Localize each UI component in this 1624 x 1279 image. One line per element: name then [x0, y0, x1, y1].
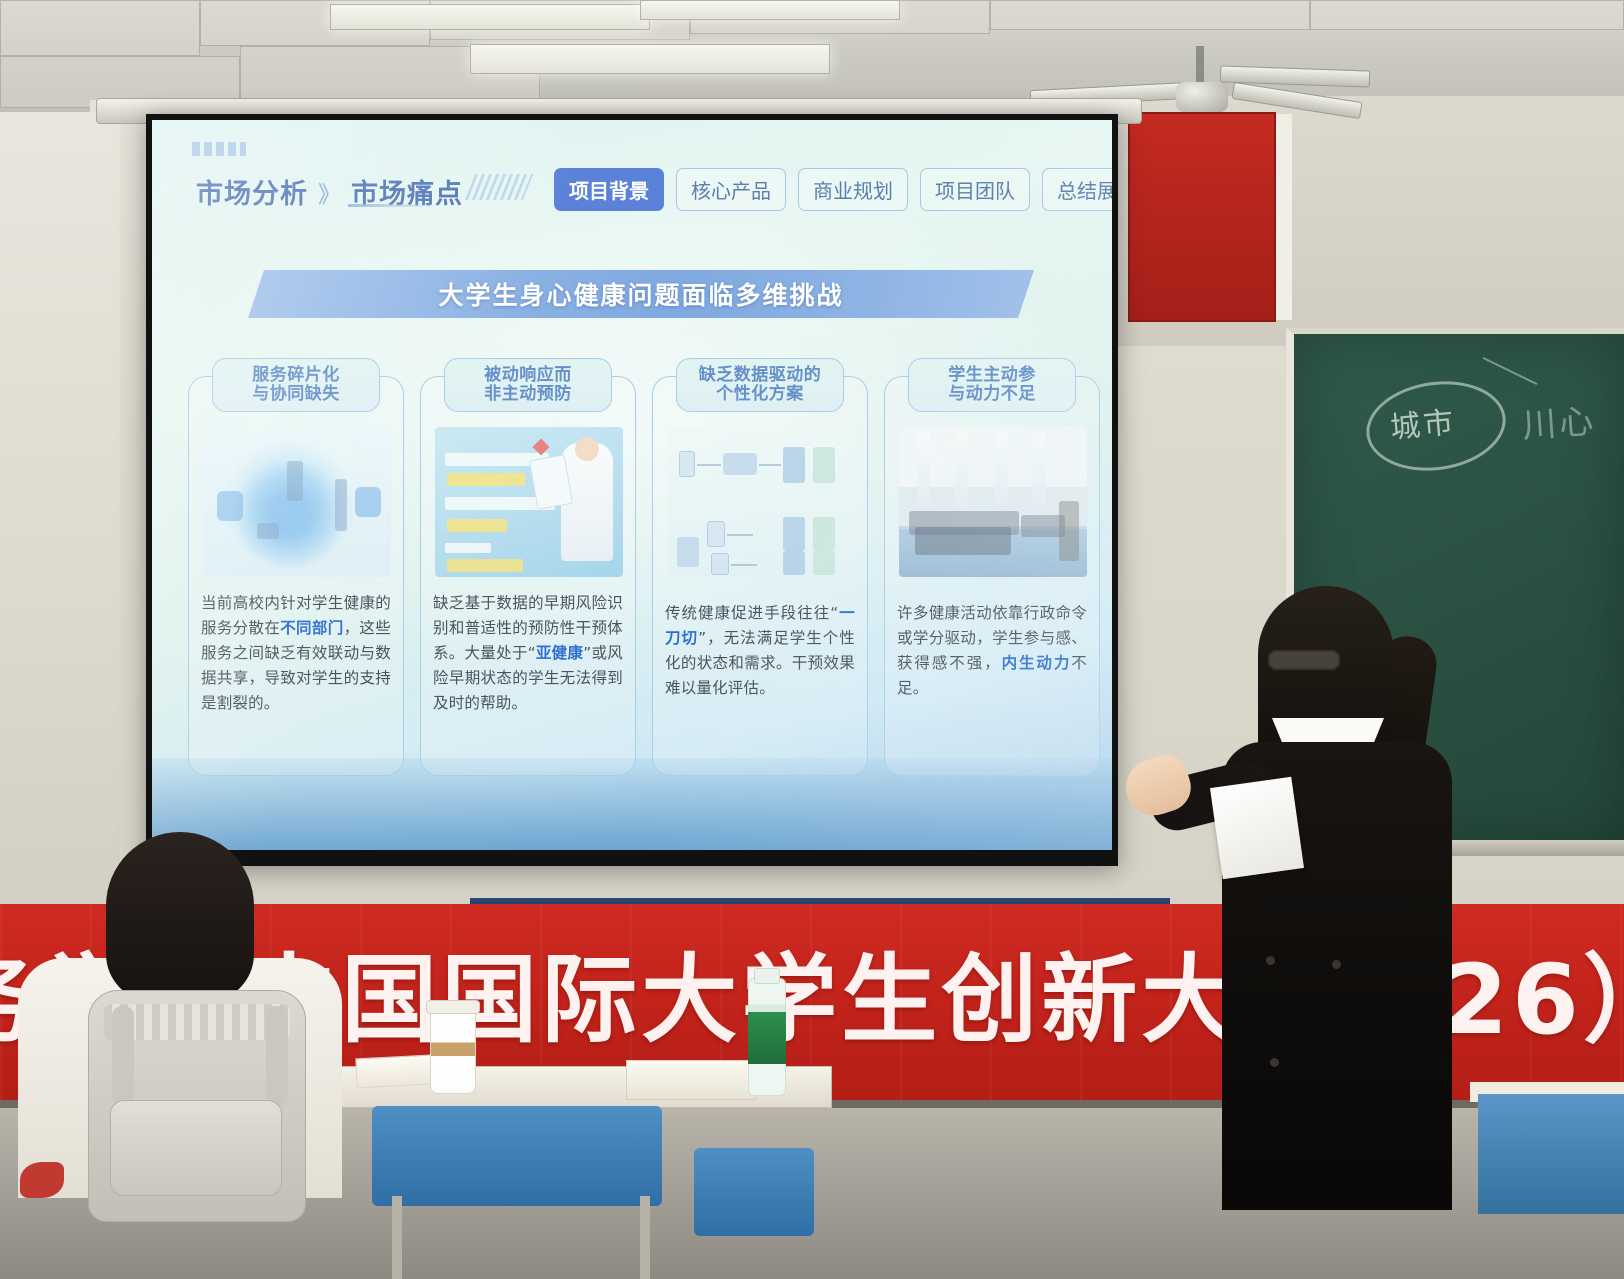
- card-text-highlight: 不同部门: [280, 619, 343, 637]
- card-badge: 服务碎片化 与协同缺失: [212, 358, 380, 412]
- card-badge-line1: 学生主动参: [948, 366, 1036, 385]
- pain-point-card: 服务碎片化 与协同缺失 当前高校内针对学生健康的服务分散在不同部门，这些服务之间…: [188, 376, 404, 776]
- card-thumbnail-tech-illustration: [203, 427, 391, 577]
- slide-tab-bar: 项目背景 核心产品 商业规划 项目团队 总结展望: [554, 168, 1112, 211]
- coat-button: [1270, 1058, 1279, 1067]
- tab-project-team[interactable]: 项目团队: [920, 168, 1030, 211]
- pain-point-card-row: 服务碎片化 与协同缺失 当前高校内针对学生健康的服务分散在不同部门，这些服务之间…: [188, 376, 1100, 776]
- coffee-cup: [430, 1008, 476, 1094]
- backpack-strap: [112, 1006, 134, 1106]
- card-badge-line2: 非主动预防: [484, 385, 572, 404]
- card-body-text: 缺乏基于数据的早期风险识别和普适性的预防性干预体系。大量处于“亚健康”或风险早期…: [433, 591, 623, 717]
- wall-white-strip: [1276, 114, 1292, 320]
- red-bow-decoration: [20, 1162, 64, 1198]
- card-badge: 被动响应而 非主动预防: [444, 358, 612, 412]
- card-text-highlight: 内生动力: [1002, 654, 1072, 672]
- ceiling-light: [470, 44, 830, 74]
- blackboard-chalk-primary: 城市: [1388, 397, 1458, 447]
- breadcrumb-parent: 市场分析: [196, 172, 308, 211]
- left-wall: [0, 112, 120, 932]
- wall-red-banner: [1128, 112, 1276, 322]
- card-thumbnail-doctor-poster: [435, 427, 623, 577]
- classroom-scene: 城市 川心 市场分析 》 市场痛点 项目背景 核心产品 商业规划 项目团队 总结…: [0, 0, 1624, 1279]
- presenter-held-paper: [1210, 777, 1304, 880]
- ceiling-fan-motor: [1176, 82, 1228, 112]
- backpack-strap: [266, 1006, 288, 1106]
- card-badge: 缺乏数据驱动的 个性化方案: [676, 358, 844, 412]
- slide-section-title: 大学生身心健康问题面临多维挑战: [438, 276, 843, 312]
- card-thumbnail-flow-diagram: [667, 427, 855, 577]
- chair-leg: [640, 1196, 650, 1279]
- pain-point-card: 被动响应而 非主动预防: [420, 376, 636, 776]
- blue-chair: [694, 1148, 814, 1236]
- card-text-highlight: 亚健康: [536, 644, 583, 662]
- card-body-text: 当前高校内针对学生健康的服务分散在不同部门，这些服务之间缺乏有效联动与数据共享，…: [201, 591, 391, 717]
- coffee-cup-lid: [426, 1000, 480, 1014]
- coat-button: [1332, 960, 1341, 969]
- slide-section-title-bar: 大学生身心健康问题面临多维挑战: [248, 270, 1034, 318]
- chair-leg: [392, 1196, 402, 1279]
- card-badge-line2: 个性化方案: [716, 385, 804, 404]
- presentation-slide: 市场分析 》 市场痛点 项目背景 核心产品 商业规划 项目团队 总结展望 大学生…: [152, 120, 1112, 850]
- breadcrumb-deco-icon: [465, 174, 534, 200]
- blackboard-chalk-secondary: 川心: [1520, 393, 1597, 447]
- ceiling-light: [330, 4, 650, 30]
- breadcrumb-underline: [348, 204, 440, 207]
- card-body-text: 许多健康活动依靠行政命令或学分驱动，学生参与感、获得感不强，内生动力不足。: [897, 601, 1087, 701]
- coat-button: [1266, 956, 1275, 965]
- tab-business-plan[interactable]: 商业规划: [798, 168, 908, 211]
- breadcrumb-separator-icon: 》: [318, 175, 341, 209]
- chalk-stroke: [1483, 357, 1538, 385]
- water-bottle-cap: [754, 968, 780, 984]
- card-badge-line1: 被动响应而: [484, 366, 572, 385]
- pain-point-card: 学生主动参 与动力不足: [884, 376, 1100, 776]
- tab-summary-outlook[interactable]: 总结展望: [1042, 168, 1112, 211]
- backpack-pocket: [110, 1100, 282, 1196]
- ceiling-light: [640, 0, 900, 20]
- card-thumbnail-classroom-photo: [899, 427, 1087, 577]
- ceiling-tile: [0, 0, 200, 56]
- ceiling-tile: [1310, 0, 1624, 30]
- seated-student-hair: [106, 832, 254, 1002]
- card-badge-line1: 缺乏数据驱动的: [699, 366, 822, 385]
- card-badge: 学生主动参 与动力不足: [908, 358, 1076, 412]
- right-desk: [1478, 1094, 1624, 1214]
- tab-project-background[interactable]: 项目背景: [554, 168, 664, 211]
- ceiling-tile: [990, 0, 1310, 30]
- tab-core-product[interactable]: 核心产品: [676, 168, 786, 211]
- desk-notebook: [626, 1060, 756, 1100]
- card-badge-line2: 与协同缺失: [252, 385, 340, 404]
- water-bottle-label: [748, 1012, 786, 1064]
- slide-deco-dashes: [192, 142, 246, 156]
- card-badge-line1: 服务碎片化: [252, 366, 340, 385]
- card-body-text: 传统健康促进手段往往“一刀切”，无法满足学生个性化的状态和需求。干预效果难以量化…: [665, 601, 855, 701]
- card-text-part: 传统健康促进手段往往“: [665, 604, 838, 622]
- pain-point-card: 缺乏数据驱动的 个性化方案: [652, 376, 868, 776]
- card-badge-line2: 与动力不足: [948, 385, 1036, 404]
- blue-chair: [372, 1106, 662, 1206]
- presenter-glasses: [1268, 650, 1340, 670]
